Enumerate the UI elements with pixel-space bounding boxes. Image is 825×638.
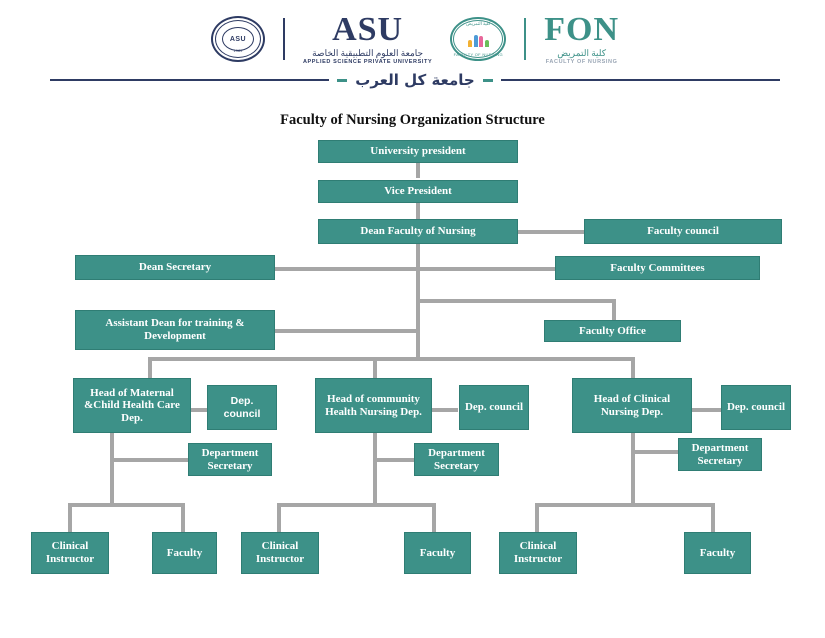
connector-b2-split: [277, 503, 435, 507]
node-faculty-1[interactable]: Faculty: [152, 532, 217, 574]
node-head-community[interactable]: Head of community Health Nursing Dep.: [315, 378, 432, 433]
connector-b2-child-1: [277, 503, 281, 532]
connector-dep-council-2: [430, 408, 458, 412]
node-faculty-2[interactable]: Faculty: [404, 532, 471, 574]
connector-drop-clinical: [631, 357, 635, 379]
node-faculty-committees[interactable]: Faculty Committees: [555, 256, 760, 280]
node-faculty-office[interactable]: Faculty Office: [544, 320, 681, 342]
page-title: Faculty of Nursing Organization Structur…: [0, 112, 825, 129]
connector-b1-child-2: [181, 503, 185, 532]
node-clinical-instructor-3[interactable]: Clinical Instructor: [499, 532, 577, 574]
connector-president-vp: [416, 163, 420, 178]
connector-b3-split: [535, 503, 713, 507]
node-dept-secretary-3[interactable]: Department Secretary: [678, 438, 762, 471]
connector-assistant-dean: [275, 329, 418, 333]
connector-dep-council-3: [691, 408, 721, 412]
node-dean-faculty-of-nursing[interactable]: Dean Faculty of Nursing: [318, 219, 518, 244]
connector-b2-secretary: [373, 458, 415, 462]
connector-dean-secretary: [275, 267, 418, 271]
node-dep-council-1[interactable]: Dep. council: [207, 385, 277, 430]
connector-b1-split: [68, 503, 184, 507]
connector-b2-child-2: [432, 503, 436, 532]
node-dept-secretary-2[interactable]: Department Secretary: [414, 443, 499, 476]
node-faculty-3[interactable]: Faculty: [684, 532, 751, 574]
connector-b1-secretary: [110, 458, 188, 462]
connector-faculty-office-h: [416, 299, 616, 303]
connector-b2-stem: [373, 433, 377, 507]
connector-faculty-committees: [416, 267, 556, 271]
node-clinical-instructor-1[interactable]: Clinical Instructor: [31, 532, 109, 574]
node-head-maternal[interactable]: Head of Maternal &Child Health Care Dep.: [73, 378, 191, 433]
connector-drop-community: [373, 357, 377, 379]
node-dept-secretary-1[interactable]: Department Secretary: [188, 443, 272, 476]
connector-b3-secretary: [631, 450, 679, 454]
node-head-clinical[interactable]: Head of Clinical Nursing Dep.: [572, 378, 692, 433]
node-dep-council-3[interactable]: Dep. council: [721, 385, 791, 430]
node-dean-secretary[interactable]: Dean Secretary: [75, 255, 275, 280]
connector-dean-council: [518, 230, 585, 234]
connector-vp-dean: [416, 203, 420, 219]
connector-b3-child-1: [535, 503, 539, 532]
org-chart: Faculty of Nursing Organization Structur…: [0, 0, 825, 638]
node-faculty-council[interactable]: Faculty council: [584, 219, 782, 244]
connector-b3-stem: [631, 433, 635, 507]
connector-b3-child-2: [711, 503, 715, 532]
connector-b1-stem: [110, 433, 114, 507]
node-vice-president[interactable]: Vice President: [318, 180, 518, 203]
connector-dep-council-1: [190, 408, 208, 412]
node-university-president[interactable]: University president: [318, 140, 518, 163]
node-clinical-instructor-2[interactable]: Clinical Instructor: [241, 532, 319, 574]
node-assistant-dean[interactable]: Assistant Dean for training & Developmen…: [75, 310, 275, 350]
connector-b1-child-1: [68, 503, 72, 532]
connector-drop-maternal: [148, 357, 152, 379]
connector-faculty-office-v: [612, 299, 616, 321]
connector-department-bus: [148, 357, 635, 361]
node-dep-council-2[interactable]: Dep. council: [459, 385, 529, 430]
